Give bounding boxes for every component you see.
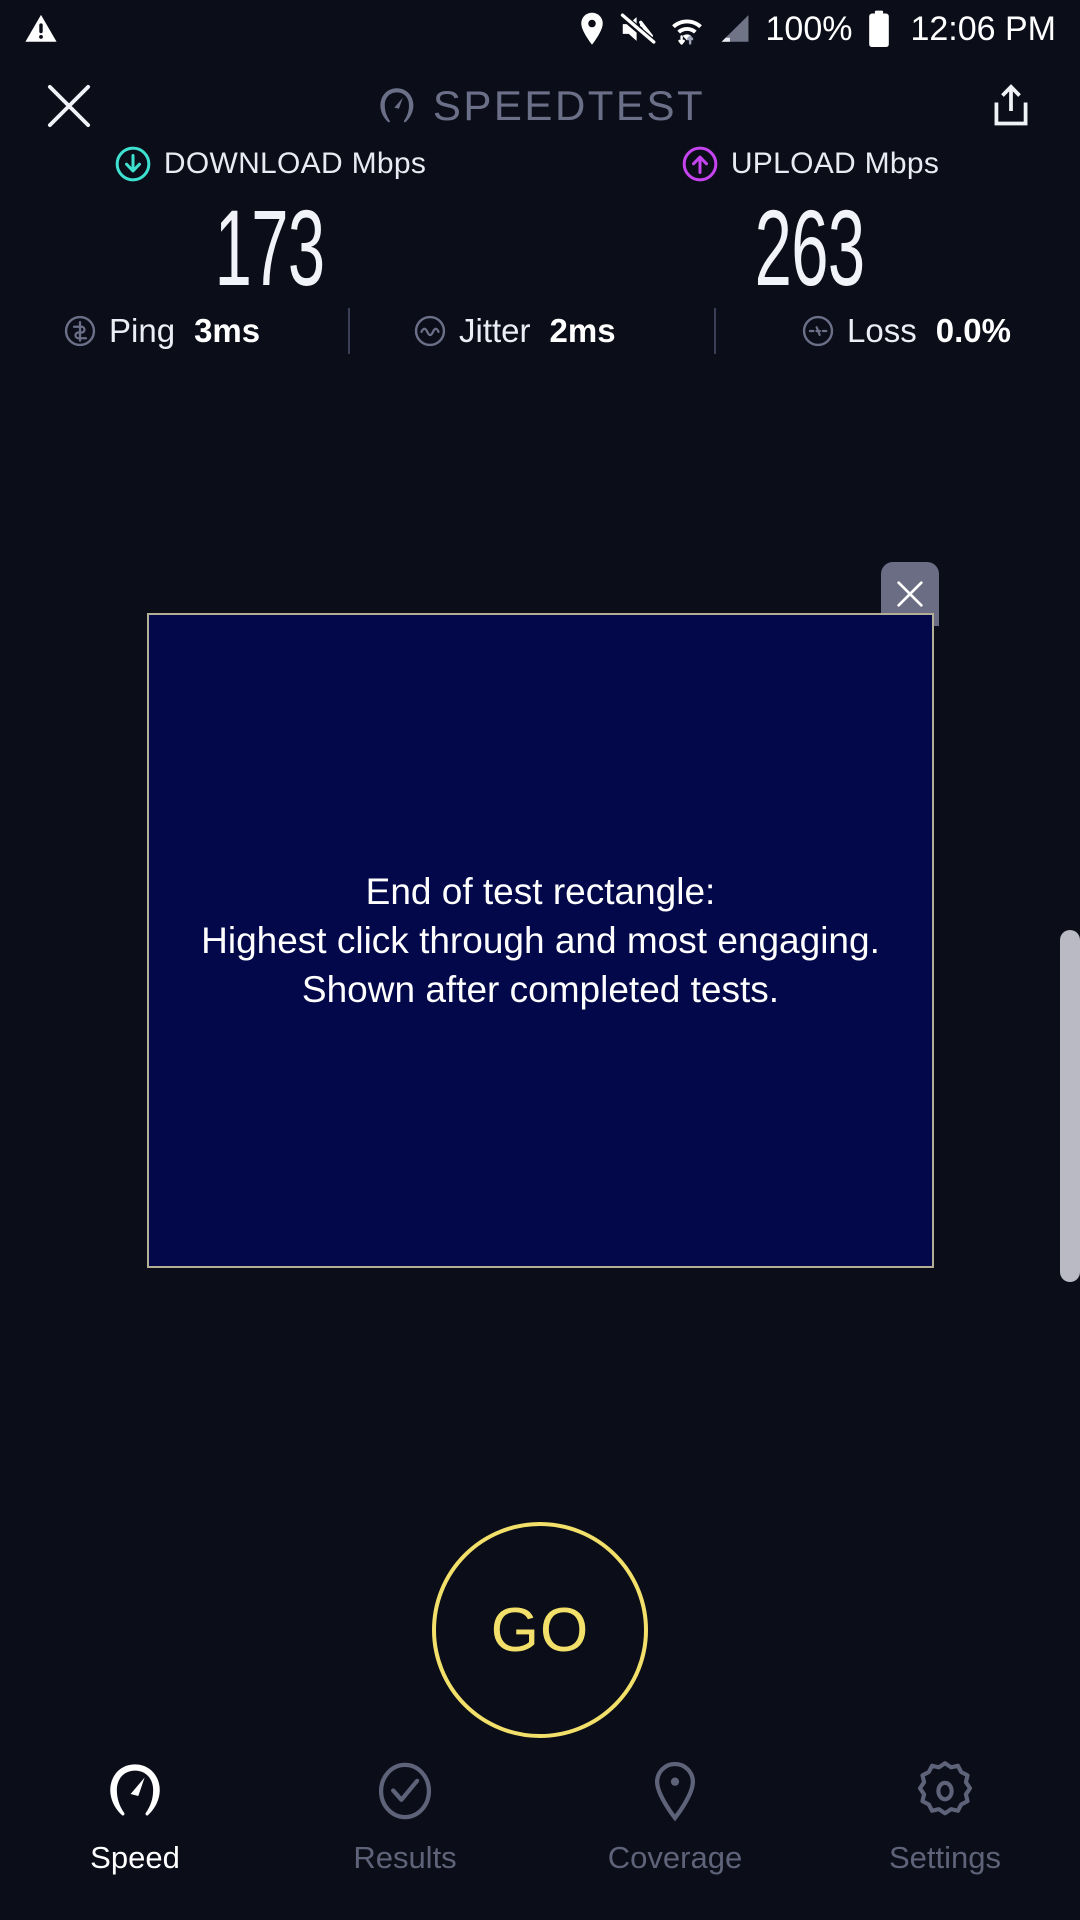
upload-metric: UPLOAD Mbps 263 [540,140,1080,302]
location-pin-icon [642,1758,708,1824]
battery-full-icon [866,10,892,48]
arrow-up-circle-icon [681,145,719,183]
jitter-icon [412,313,448,349]
share-icon[interactable] [980,75,1042,137]
ad-text: End of test rectangle: Highest click thr… [181,867,900,1015]
loss-icon [800,313,836,349]
ping-metric: Ping 3ms [62,312,260,350]
clock-label: 12:06 PM [910,10,1056,49]
vertical-scrollbar[interactable] [1060,930,1080,1282]
arrow-down-circle-icon [114,145,152,183]
loss-value: 0.0% [936,312,1011,350]
nav-item-coverage[interactable]: Coverage [540,1758,810,1876]
ad-banner[interactable]: End of test rectangle: Highest click thr… [147,613,934,1268]
nav-item-settings[interactable]: Settings [810,1758,1080,1876]
nav-label-settings: Settings [889,1840,1001,1876]
go-button[interactable]: GO [432,1522,648,1738]
ping-value: 3ms [194,312,260,350]
download-label: DOWNLOAD [164,147,343,180]
loss-metric: Loss 0.0% [800,312,1011,350]
speedtest-app-screen: 100% 12:06 PM SPEEDTEST [0,0,1080,1920]
test-results: DOWNLOAD Mbps 173 UPLOAD [0,140,1080,302]
nav-label-results: Results [353,1840,456,1876]
go-button-label: GO [491,1595,589,1666]
gear-icon [912,1758,978,1824]
jitter-metric: Jitter 2ms [412,312,616,350]
brand-title: SPEEDTEST [433,82,705,130]
speedometer-icon [375,84,419,128]
bottom-navigation: Speed Results Coverage [0,1748,1080,1920]
jitter-value: 2ms [550,312,616,350]
upload-value: 263 [755,194,865,302]
network-quality-row: Ping 3ms Jitter 2ms Loss [0,300,1080,362]
cell-signal-icon [718,13,752,45]
download-metric: DOWNLOAD Mbps 173 [0,140,540,302]
download-unit: Mbps [352,147,427,180]
divider [714,308,716,354]
status-bar: 100% 12:06 PM [0,0,1080,58]
close-icon[interactable] [38,75,100,137]
ping-label: Ping [109,312,175,350]
upload-label: UPLOAD [731,147,856,180]
battery-percent-label: 100% [766,10,853,49]
divider [348,308,350,354]
volume-muted-icon [620,13,656,45]
upload-unit: Mbps [865,147,940,180]
nav-item-speed[interactable]: Speed [0,1758,270,1876]
wifi-icon [670,12,704,46]
nav-item-results[interactable]: Results [270,1758,540,1876]
brand-logo: SPEEDTEST [375,82,705,130]
nav-label-speed: Speed [90,1840,180,1876]
warning-triangle-icon [24,12,58,46]
loss-label: Loss [847,312,917,350]
jitter-label: Jitter [459,312,531,350]
check-circle-icon [372,1758,438,1824]
nav-label-coverage: Coverage [608,1840,742,1876]
speedometer-icon [102,1758,168,1824]
ping-icon [62,313,98,349]
location-pin-icon [578,12,606,46]
download-value: 173 [215,194,325,302]
